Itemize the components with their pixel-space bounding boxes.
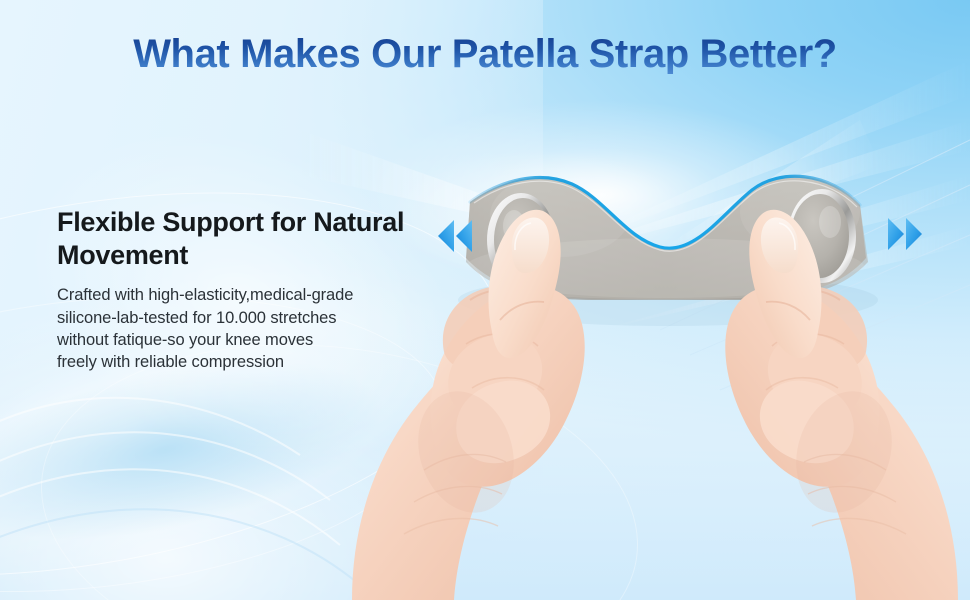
double-chevron-right-icon (882, 212, 926, 256)
double-chevron-left-icon (434, 214, 478, 258)
feature-body: Crafted with high-elasticity,medical-gra… (57, 284, 437, 372)
promo-banner: What Makes Our Patella Strap Better? (0, 0, 970, 600)
feature-text-block: Flexible Support for Natural Movement Cr… (57, 206, 437, 373)
feature-heading: Flexible Support for Natural Movement (57, 206, 437, 272)
feature-body-line-3: without fatique-so your knee moves (57, 329, 437, 351)
feature-body-line-4: freely with reliable compression (57, 351, 437, 373)
feature-body-line-2: silicone-lab-tested for 10.000 stretches (57, 307, 437, 329)
feature-body-line-1: Crafted with high-elasticity,medical-gra… (57, 284, 437, 306)
feature-heading-line-1: Flexible Support for (57, 207, 306, 237)
